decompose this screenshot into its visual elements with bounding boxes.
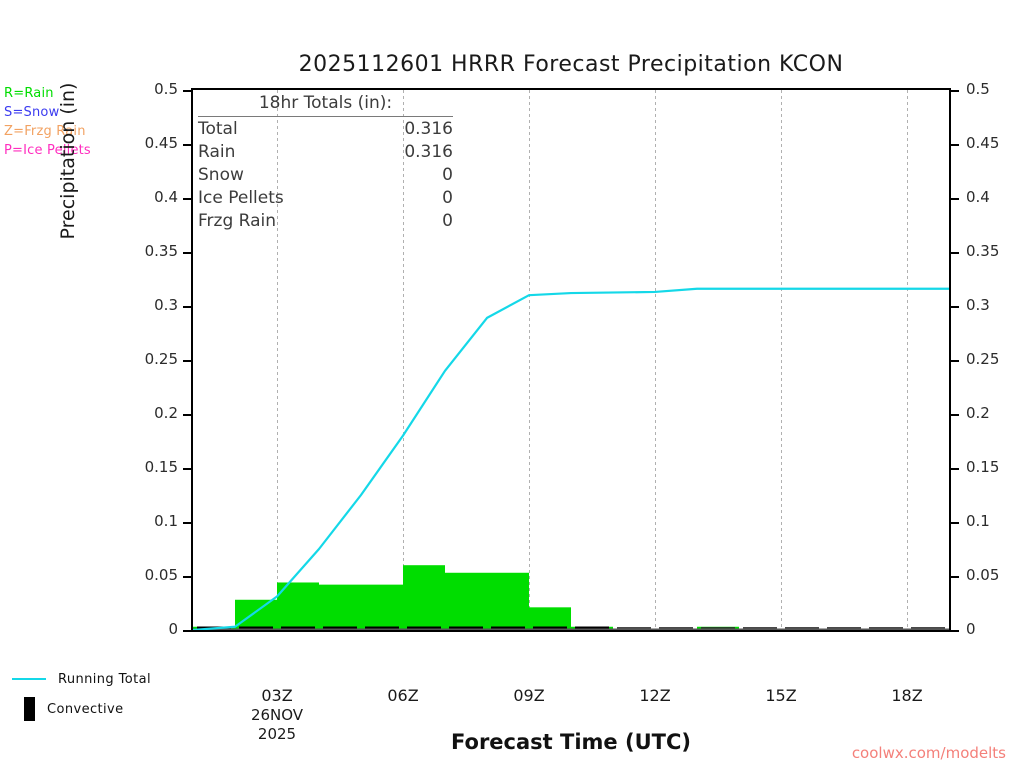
y-axis-tick-mark-left <box>183 360 191 362</box>
zero-baseline <box>193 629 949 631</box>
y-axis-tick-mark-right <box>951 360 959 362</box>
totals-row-rain: Rain 0.316 <box>198 141 453 164</box>
legend-item-running-total: Running Total <box>12 664 151 694</box>
totals-row-snow: Snow 0 <box>198 164 453 187</box>
ptype-marker-rain: R <box>206 629 222 630</box>
y-axis-tick-mark-left <box>183 90 191 92</box>
legend-label-convective: Convective <box>47 702 124 717</box>
y-axis-tick-mark-right <box>951 252 959 254</box>
x-axis-tick-label: 15Z <box>751 686 811 705</box>
y-axis-tick-label-left: 0.15 <box>100 458 178 476</box>
y-axis-tick-mark-right <box>951 576 959 578</box>
legend-label-running-total: Running Total <box>58 672 151 687</box>
y-axis-tick-mark-right <box>951 90 959 92</box>
y-axis-tick-label-right: 0.15 <box>966 458 999 476</box>
y-axis-tick-label-left: 0.5 <box>100 80 178 98</box>
ptype-marker-rain: R <box>542 629 558 630</box>
chart-legend: Running Total Convective <box>12 664 151 724</box>
y-axis-tick-mark-left <box>183 468 191 470</box>
y-axis-tick-mark-left <box>183 198 191 200</box>
x-axis-tick-label: 06Z <box>373 686 433 705</box>
precip-bar <box>487 573 529 630</box>
y-axis-tick-mark-right <box>951 198 959 200</box>
totals-value-snow: 0 <box>442 164 453 187</box>
page-title: 2025112601 HRRR Forecast Precipitation K… <box>191 52 951 77</box>
ptype-marker-rain: R <box>374 629 390 630</box>
totals-box-heading: 18hr Totals (in): <box>198 92 453 117</box>
y-axis-tick-mark-right <box>951 414 959 416</box>
y-axis-tick-label-left: 0.3 <box>100 296 178 314</box>
y-axis-tick-label-right: 0.4 <box>966 188 990 206</box>
running-total-line-icon <box>12 678 46 680</box>
y-axis-tick-label-left: 0.35 <box>100 242 178 260</box>
y-axis-tick-label-right: 0.05 <box>966 566 999 584</box>
ptype-marker-rain: R <box>458 629 474 630</box>
y-axis-tick-mark-right <box>951 522 959 524</box>
y-axis-tick-mark-left <box>183 144 191 146</box>
totals-label-snow: Snow <box>198 164 244 187</box>
precip-bar <box>445 573 487 630</box>
precip-bar <box>319 585 361 630</box>
y-axis-tick-label-left: 0.2 <box>100 404 178 422</box>
y-axis-tick-label-left: 0.1 <box>100 512 178 530</box>
totals-value-rain: 0.316 <box>404 141 453 164</box>
totals-box-rule <box>191 92 193 235</box>
y-axis-tick-label-left: 0.25 <box>100 350 178 368</box>
precip-bar <box>361 585 403 630</box>
totals-value-frzg-rain: 0 <box>442 210 453 233</box>
totals-row-total: Total 0.316 <box>198 118 453 141</box>
totals-label-rain: Rain <box>198 141 235 164</box>
y-axis-tick-label-left: 0 <box>100 620 178 638</box>
y-axis-tick-label-right: 0.5 <box>966 80 990 98</box>
x-axis-tick-label: 18Z <box>877 686 937 705</box>
totals-row-frzg-rain: Frzg Rain 0 <box>198 210 453 233</box>
y-axis-tick-label-right: 0.1 <box>966 512 990 530</box>
y-axis-tick-label-right: 0.3 <box>966 296 990 314</box>
y-axis-tick-label-left: 0.45 <box>100 134 178 152</box>
date-stamp-month-day: 26NOV <box>237 706 317 725</box>
y-axis-tick-label-right: 0.45 <box>966 134 999 152</box>
y-axis-tick-mark-left <box>183 630 191 632</box>
legend-item-convective: Convective <box>12 694 151 724</box>
totals-label-frzg-rain: Frzg Rain <box>198 210 276 233</box>
precip-bar <box>403 565 445 630</box>
y-axis-tick-label-right: 0.25 <box>966 350 999 368</box>
x-axis-tick-label: 09Z <box>499 686 559 705</box>
x-axis-tick-label: 12Z <box>625 686 685 705</box>
running-total-line <box>193 289 949 630</box>
y-axis-tick-mark-right <box>951 306 959 308</box>
totals-label-ice-pellets: Ice Pellets <box>198 187 284 210</box>
x-axis-tick-label: 03Z <box>247 686 307 705</box>
totals-value-ice-pellets: 0 <box>442 187 453 210</box>
y-axis-tick-mark-right <box>951 144 959 146</box>
ptype-marker-rain: R <box>500 629 516 630</box>
y-axis-tick-mark-left <box>183 414 191 416</box>
ptype-marker-rain: R <box>416 629 432 630</box>
ptype-marker-rain: R <box>290 629 306 630</box>
y-axis-tick-mark-left <box>183 576 191 578</box>
y-axis-tick-mark-left <box>183 522 191 524</box>
ptype-marker-rain: R <box>248 629 264 630</box>
y-axis-title: Precipitation (in) <box>57 41 79 281</box>
convective-bar-icon <box>24 697 35 721</box>
totals-box: 18hr Totals (in): Total 0.316 Rain 0.316… <box>198 92 453 233</box>
chart-page: 2025112601 HRRR Forecast Precipitation K… <box>0 0 1024 768</box>
y-axis-tick-mark-left <box>183 252 191 254</box>
x-axis-title: Forecast Time (UTC) <box>191 730 951 754</box>
ptype-marker-rain: R <box>332 629 348 630</box>
y-axis-tick-label-right: 0.2 <box>966 404 990 422</box>
y-axis-tick-label-left: 0.4 <box>100 188 178 206</box>
y-axis-tick-label-left: 0.05 <box>100 566 178 584</box>
y-axis-tick-mark-right <box>951 630 959 632</box>
y-axis-tick-label-right: 0 <box>966 620 976 638</box>
totals-value-total: 0.316 <box>404 118 453 141</box>
ptype-marker-rain: R <box>710 629 726 630</box>
y-axis-tick-mark-left <box>183 306 191 308</box>
watermark: coolwx.com/modelts <box>852 744 1006 762</box>
precip-bar <box>235 600 277 630</box>
y-axis-tick-label-right: 0.35 <box>966 242 999 260</box>
y-axis-tick-mark-right <box>951 468 959 470</box>
totals-label-total: Total <box>198 118 238 141</box>
totals-row-ice-pellets: Ice Pellets 0 <box>198 187 453 210</box>
